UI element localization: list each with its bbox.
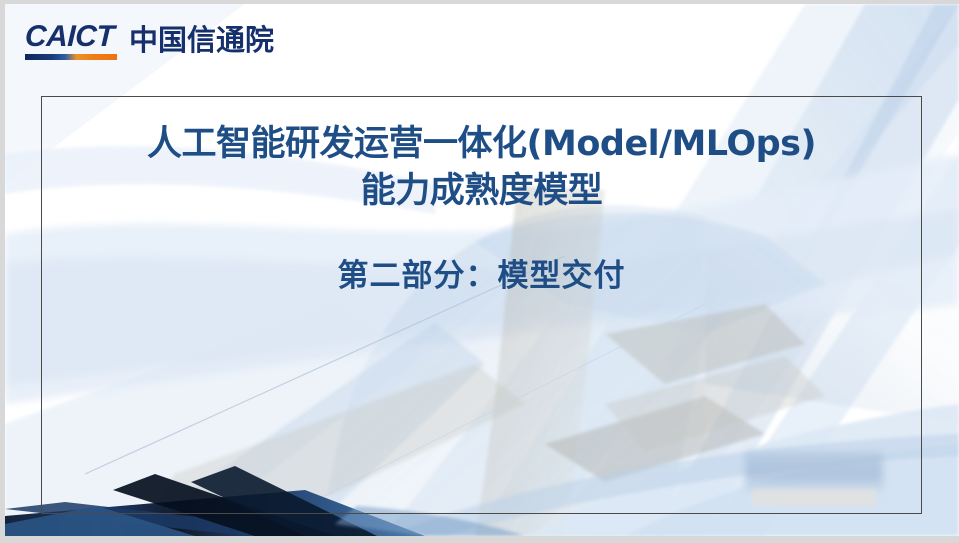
page-edge-bottom [0,536,959,543]
title-block: 人工智能研发运营一体化(Model/MLOps) 能力成熟度模型 第二部分：模型… [41,96,922,297]
slide-title-line-1: 人工智能研发运营一体化(Model/MLOps) [147,124,816,164]
background-blur-patch-secondary [752,489,876,506]
background-blur-patch [745,452,883,494]
caict-logo-text: CAICT [24,22,117,52]
caict-logo-underline-icon [25,54,117,60]
caict-logo: CAICT 中国信通院 [25,18,274,60]
slide-canvas: CAICT 中国信通院 人工智能研发运营一体化(Model/MLOps) 能力成… [0,0,959,543]
slide-title-line-2: 能力成熟度模型 [41,168,922,215]
caict-logo-chinese-name: 中国信通院 [129,25,274,55]
caict-wordmark: CAICT [25,22,117,60]
slide-subtitle: 第二部分：模型交付 [41,215,922,297]
slide-title: 人工智能研发运营一体化(Model/MLOps) 能力成熟度模型 [41,96,922,215]
